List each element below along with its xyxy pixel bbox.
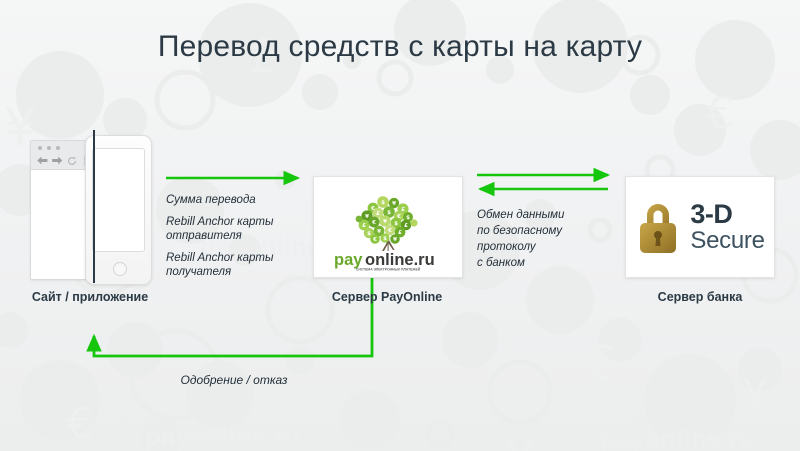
- svg-text:€: €: [396, 214, 401, 220]
- svg-text:£: £: [404, 223, 408, 229]
- caption-bank-server: Сервер банка: [600, 290, 800, 304]
- svg-text:€: €: [372, 237, 377, 243]
- svg-text:£: £: [398, 230, 402, 236]
- svg-text:$: $: [367, 231, 371, 237]
- caption-payonline-server: Сервер PayOnline: [287, 290, 487, 304]
- flow-label-approval-rejection: Одобрение / отказ: [94, 373, 374, 387]
- payonline-word-pay: pay: [334, 251, 363, 269]
- svg-text:¥: ¥: [392, 201, 396, 207]
- 3d-secure-logo: 3-D Secure: [626, 177, 774, 277]
- svg-text:$: $: [383, 236, 387, 242]
- flow-line-1: Сумма перевода: [166, 193, 306, 207]
- svg-text:¥: ¥: [393, 237, 397, 243]
- payonline-word-online: online.ru: [365, 251, 435, 269]
- svg-text:¥: ¥: [377, 229, 381, 235]
- window-dot-icon: [47, 146, 51, 150]
- phone-home-button-icon: [113, 262, 127, 276]
- window-dots-icon: [38, 146, 60, 150]
- flow-line-2b: отправителя: [166, 230, 242, 242]
- svg-text:€: €: [387, 228, 392, 234]
- diagram-canvas: £ ¥ £ ¥ € € ¥ € payonline.ru payonline.r…: [0, 0, 800, 451]
- flow-line-3: Rebill Anchor карты получателя: [166, 251, 306, 279]
- smartphone-icon: [85, 135, 152, 285]
- flow-line-2: Rebill Anchor карты отправителя: [166, 215, 306, 243]
- window-dot-icon: [38, 146, 42, 150]
- page-title: Перевод средств с карты на карту: [0, 30, 800, 64]
- flow-line-3b: получателя: [166, 266, 231, 278]
- back-arrow-icon: [37, 156, 48, 165]
- 3d-secure-line2: Secure: [690, 229, 764, 253]
- lock-icon: [635, 199, 681, 255]
- svg-text:£: £: [376, 211, 380, 217]
- 3d-secure-line1: 3-D: [690, 201, 764, 228]
- svg-text:$: $: [387, 210, 391, 216]
- flow-line-1: Обмен данными: [477, 207, 617, 223]
- reload-icon: [67, 156, 77, 166]
- caption-site-app: Сайт / приложение: [0, 290, 180, 304]
- flow-line-3a: Rebill Anchor карты: [166, 252, 273, 264]
- flow-line-3: протоколу: [477, 239, 617, 255]
- window-dot-icon: [56, 146, 60, 150]
- flow-line-4: с банком: [477, 255, 617, 271]
- payonline-server-card: €$¥ £¥£ $€$ £€¥ $£$ ¥€£ €$¥ pay online.r…: [313, 176, 463, 278]
- payonline-tagline: СИСТЕМА ЭЛЕКТРОННЫХ ПЛАТЕЖЕЙ: [356, 268, 421, 272]
- phone-screen: [92, 148, 145, 252]
- svg-text:€: €: [371, 220, 376, 226]
- payonline-logo: €$¥ £¥£ $€$ £€¥ $£$ ¥€£ €$¥ pay online.r…: [314, 177, 462, 277]
- svg-text:$: $: [406, 215, 410, 221]
- svg-text:$: $: [394, 221, 398, 227]
- svg-text:$: $: [381, 200, 385, 206]
- site-app-device-mockup: [30, 135, 150, 283]
- svg-text:€: €: [370, 206, 375, 212]
- forward-arrow-icon: [52, 156, 63, 165]
- payonline-logo-svg: €$¥ £¥£ $€$ £€¥ $£$ ¥€£ €$¥ pay online.r…: [328, 181, 448, 273]
- svg-text:£: £: [362, 223, 366, 229]
- flow-line-2: по безопасному: [477, 223, 617, 239]
- bank-server-card: 3-D Secure: [625, 176, 775, 278]
- flow-label-payonline-to-bank: Обмен данными по безопасному протоколу с…: [477, 207, 617, 271]
- svg-text:¥: ¥: [365, 214, 369, 220]
- svg-text:£: £: [401, 207, 405, 213]
- svg-text:¥: ¥: [383, 219, 387, 225]
- flow-line-2a: Rebill Anchor карты: [166, 216, 273, 228]
- flow-label-site-to-payonline: Сумма перевода Rebill Anchor карты отпра…: [166, 193, 306, 279]
- device-divider-line: [93, 130, 95, 283]
